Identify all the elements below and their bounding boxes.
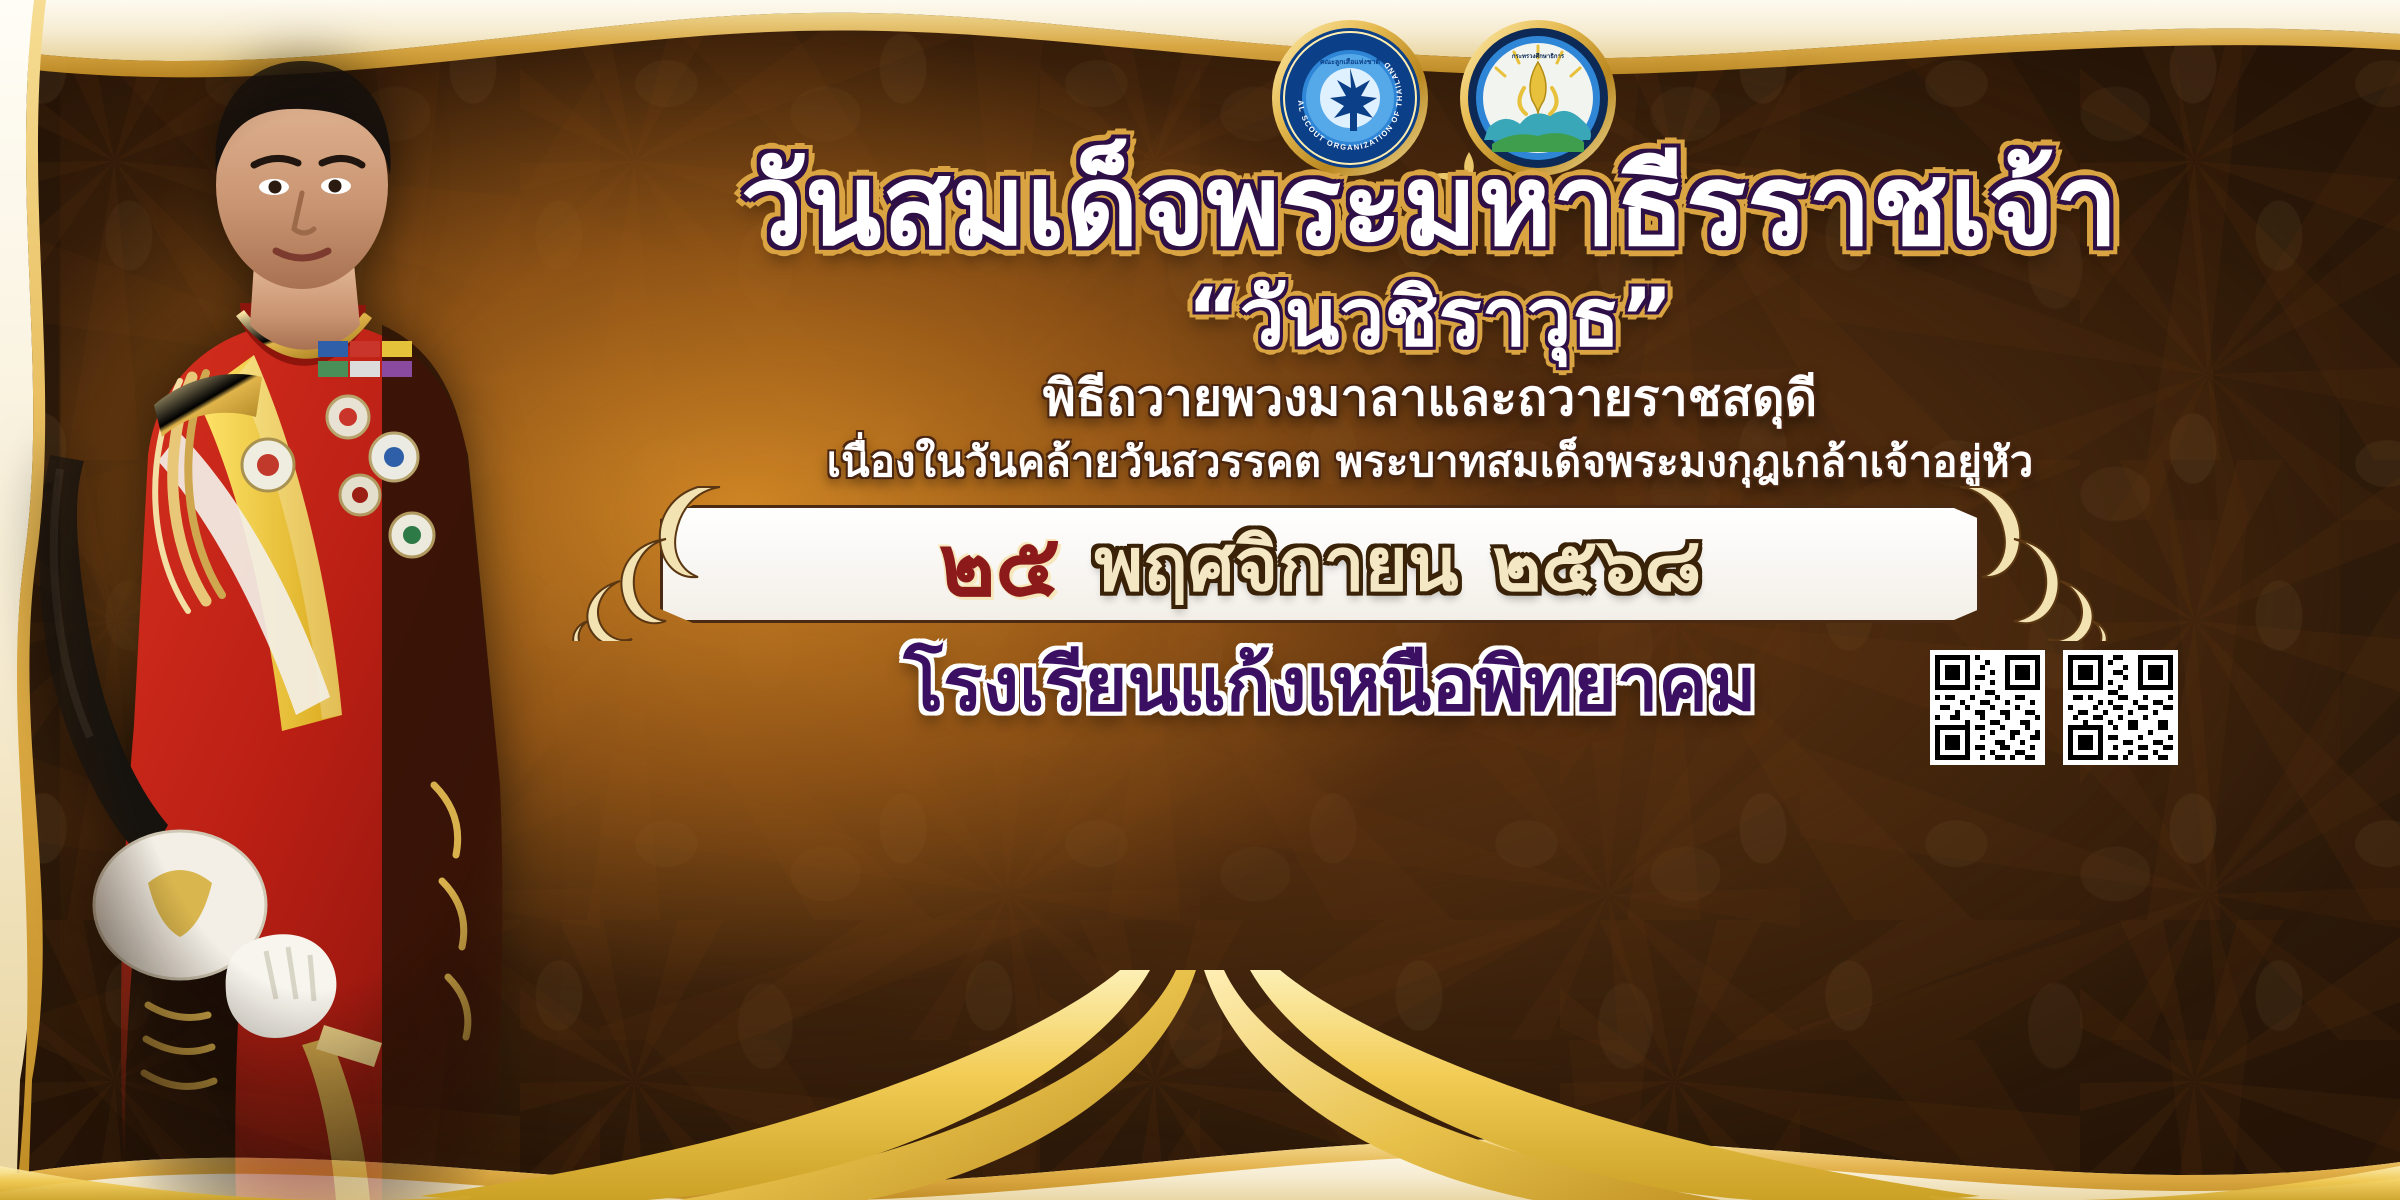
page-title-sub: “วันวชิราวุธ” xyxy=(620,278,2240,358)
qr-code-group xyxy=(1930,650,2178,765)
date-day: ๒๕ xyxy=(939,496,1061,633)
date-year: ๒๕๖๘ xyxy=(1493,505,1702,623)
thai-ornament-right-icon xyxy=(1920,481,2110,641)
ceremony-description-line-1: พิธีถวายพวงมาลาและถวายราชสดุดี xyxy=(620,372,2240,425)
date-text-group: ๒๕ พฤศจิกายน ๒๕๖๘ xyxy=(660,505,1980,623)
qr-code-right[interactable] xyxy=(2063,650,2178,765)
text-content-block: วันสมเด็จพระมหาธีรราชเจ้า “วันวชิราวุธ” … xyxy=(640,0,2380,1200)
commemoration-banner: NATIONAL SCOUT ORGANIZATION OF THAILAND … xyxy=(0,0,2400,1200)
organization-name: โรงเรียนแก้งเหนือพิทยาคม xyxy=(580,648,2080,722)
date-plaque: ๒๕ พฤศจิกายน ๒๕๖๘ xyxy=(560,505,2120,630)
king-vajiravudh-rama-vi-portrait xyxy=(30,25,590,1200)
date-month: พฤศจิกายน xyxy=(1094,505,1458,623)
qr-code-left[interactable] xyxy=(1930,650,2045,765)
ceremony-description-line-2: เนื่องในวันคล้ายวันสวรรคต พระบาทสมเด็จพร… xyxy=(620,440,2240,484)
page-title-main: วันสมเด็จพระมหาธีรราชเจ้า xyxy=(620,150,2240,262)
